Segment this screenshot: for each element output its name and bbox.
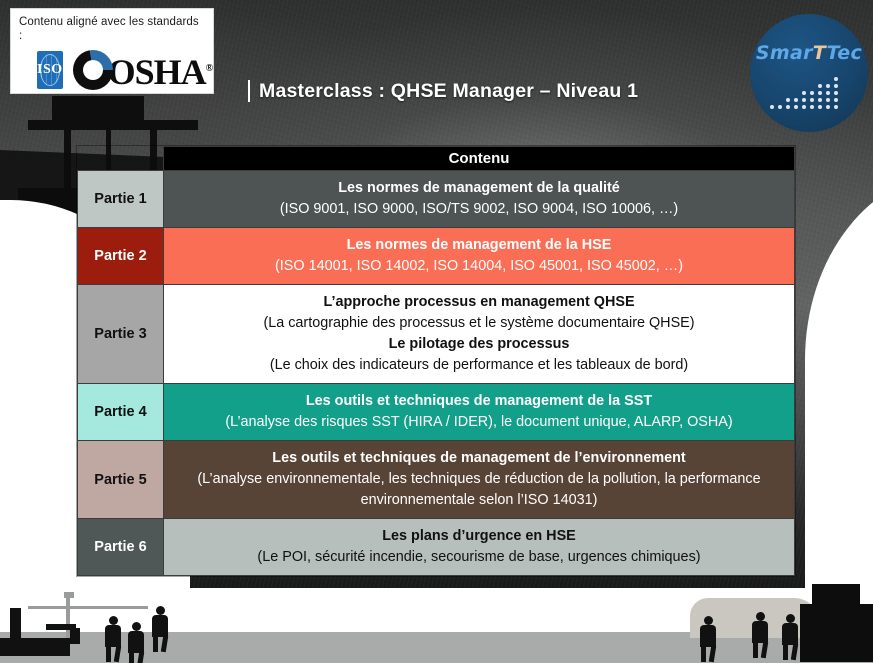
table-row[interactable]: Partie 1Les normes de management de la q… (78, 171, 795, 228)
row-content-cell: Les normes de management de la qualité(I… (164, 171, 795, 228)
content-detail: (Le POI, sécurité incendie, secourisme d… (174, 547, 784, 568)
iso-logo: ISO (37, 51, 63, 89)
smarttec-logo: SmarTTec (750, 14, 868, 132)
program-table: ContenuPartie 1Les normes de management … (77, 146, 795, 576)
row-content-cell: L’approche processus en management QHSE(… (164, 285, 795, 384)
osha-ring-icon (73, 50, 113, 90)
content-heading: Les plans d’urgence en HSE (174, 526, 784, 547)
row-content-cell: Les outils et techniques de management d… (164, 441, 795, 519)
table-row[interactable]: Partie 5Les outils et techniques de mana… (78, 441, 795, 519)
header-label-spacer (78, 147, 164, 171)
excavator-silhouette (0, 608, 110, 663)
osha-logo-text: OSHA® (108, 51, 213, 90)
row-content-cell: Les outils et techniques de management d… (164, 384, 795, 441)
row-label-cell: Partie 2 (78, 228, 164, 285)
row-label-cell: Partie 1 (78, 171, 164, 228)
worker-silhouette (782, 614, 800, 663)
row-content-cell: Les normes de management de la HSE(ISO 1… (164, 228, 795, 285)
slide-canvas: Contenu aligné avec les standards : ISO … (0, 0, 873, 663)
content-heading: Le pilotage des processus (174, 334, 784, 355)
tanker-silhouette (800, 578, 873, 663)
worker-silhouette (128, 622, 146, 663)
content-detail: (Le choix des indicateurs de performance… (174, 355, 784, 376)
logo-part-2: T (813, 42, 827, 64)
content-heading: Les outils et techniques de management d… (174, 391, 784, 412)
worker-silhouette (700, 616, 718, 663)
logo-part-3: Tec (827, 42, 863, 64)
table-row[interactable]: Partie 6Les plans d’urgence en HSE(Le PO… (78, 519, 795, 576)
dot-matrix-icon (770, 72, 848, 112)
table-row[interactable]: Partie 4Les outils et techniques de mana… (78, 384, 795, 441)
row-label-cell: Partie 3 (78, 285, 164, 384)
worker-silhouette (105, 616, 123, 663)
row-label-cell: Partie 6 (78, 519, 164, 576)
column-header-contenu: Contenu (164, 147, 795, 171)
logo-part-1: Smar (756, 42, 813, 64)
iso-logo-text: ISO (37, 62, 63, 78)
content-detail: (L’analyse des risques SST (HIRA / IDER)… (174, 412, 784, 433)
worker-silhouette (152, 606, 170, 663)
content-detail: (ISO 14001, ISO 14002, ISO 14004, ISO 45… (174, 256, 784, 277)
page-title: Masterclass : QHSE Manager – Niveau 1 (248, 80, 638, 102)
table-row[interactable]: Partie 3L’approche processus en manageme… (78, 285, 795, 384)
row-label-cell: Partie 4 (78, 384, 164, 441)
table-header-row: Contenu (78, 147, 795, 171)
smarttec-logo-text: SmarTTec (756, 42, 862, 64)
content-heading: Les normes de management de la qualité (174, 178, 784, 199)
content-heading: Les outils et techniques de management d… (174, 448, 784, 469)
table-row[interactable]: Partie 2Les normes de management de la H… (78, 228, 795, 285)
standards-alignment-box: Contenu aligné avec les standards : ISO … (10, 8, 214, 94)
content-heading: L’approche processus en management QHSE (174, 292, 784, 313)
standards-logo-row: ISO OSHA® (19, 50, 205, 90)
registered-mark: ® (206, 63, 212, 74)
content-detail: (La cartographie des processus et le sys… (174, 313, 784, 334)
worker-silhouette (752, 612, 770, 663)
standards-caption: Contenu aligné avec les standards : (19, 15, 205, 43)
content-detail: (L’analyse environnementale, les techniq… (174, 469, 784, 511)
osha-logo: OSHA® (73, 50, 213, 90)
program-table-body: ContenuPartie 1Les normes de management … (78, 147, 795, 576)
content-heading: Les normes de management de la HSE (174, 235, 784, 256)
row-label-cell: Partie 5 (78, 441, 164, 519)
row-content-cell: Les plans d’urgence en HSE(Le POI, sécur… (164, 519, 795, 576)
content-detail: (ISO 9001, ISO 9000, ISO/TS 9002, ISO 90… (174, 199, 784, 220)
